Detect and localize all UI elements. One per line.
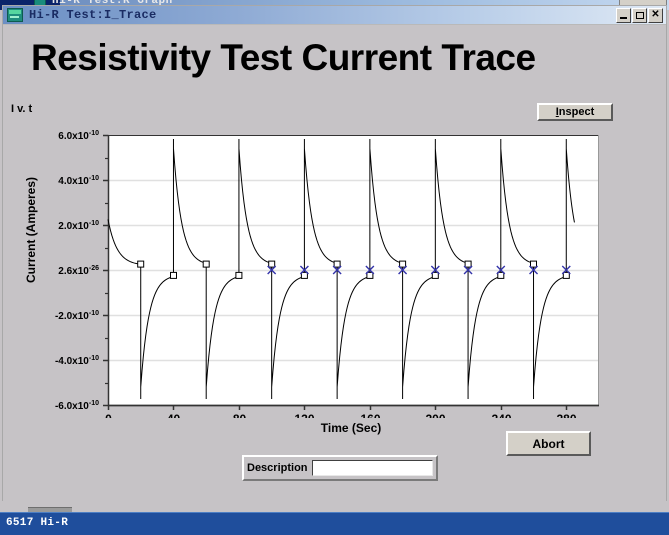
chart-data-marker-square [171,272,177,278]
taskbar-item-6517-hi-r[interactable]: 6517 Hi-R [6,517,68,529]
abort-button[interactable]: Abort [506,431,591,456]
chart-data-marker-square [465,261,471,267]
chart-data-marker-square [498,272,504,278]
chart-data-marker-square [432,272,438,278]
chart-x-tick-label: 80 [233,412,247,418]
chart-data-marker-square [203,261,209,267]
chart-x-tick-label: 0 [105,412,112,418]
minimize-icon [620,17,627,19]
close-button[interactable]: ✕ [648,8,663,23]
desktop-screen: Hi-R Test:R Graph Hi-R Test:I_Trace ✕ Re… [0,0,669,535]
chart-x-tick-label: 200 [425,412,445,418]
chart-data-marker-square [301,272,307,278]
chart-x-tick-label: 120 [294,412,314,418]
description-label: Description [247,462,312,474]
maximize-icon [636,12,644,19]
chart-data-marker-square [334,261,340,267]
maximize-button[interactable] [632,8,647,23]
chart-data-marker-square [138,261,144,267]
window-title: Hi-R Test:I_Trace [29,8,157,22]
chart-data-marker-square [563,272,569,278]
description-input[interactable] [312,460,433,476]
description-panel: Description [242,455,438,481]
chart-y-tick-label: 2.0x10-10 [58,220,99,232]
page-title: Resistivity Test Current Trace [31,37,536,79]
chart-data-marker-square [367,272,373,278]
current-trace-chart[interactable]: Current (Amperes) Time (Sec) 6.0x10-104.… [11,113,611,423]
chart-plot-svg: 6.0x10-104.0x10-102.0x10-102.6x10-26-2.0… [11,113,611,418]
taskbar: 6517 Hi-R [0,512,669,535]
chart-x-tick-label: 240 [491,412,511,418]
chart-y-tick-label: -6.0x10-10 [55,400,99,412]
chart-y-tick-label: -4.0x10-10 [55,355,99,367]
chart-data-marker-square [531,261,537,267]
minimize-button[interactable] [616,8,631,23]
chart-x-tick-label: 280 [556,412,576,418]
chart-y-tick-label: -2.0x10-10 [55,310,99,322]
chart-x-tick-label: 40 [167,412,181,418]
chart-y-tick-label: 4.0x10-10 [58,175,99,187]
window-titlebar[interactable]: Hi-R Test:I_Trace ✕ [3,6,666,25]
chart-y-tick-label: 6.0x10-10 [58,130,99,142]
window-controls: ✕ [616,8,663,23]
window-client-area: Resistivity Test Current Trace I v. t In… [3,25,666,501]
chart-y-tick-label: 2.6x10-26 [58,265,99,277]
taskbar-gap [0,501,669,512]
app-window: Hi-R Test:I_Trace ✕ Resistivity Test Cur… [2,5,667,501]
chart-data-marker-square [269,261,275,267]
chart-x-tick-label: 160 [360,412,380,418]
chart-data-marker-square [400,261,406,267]
chart-data-marker-square [236,272,242,278]
instrument-monitor-icon [7,8,23,22]
